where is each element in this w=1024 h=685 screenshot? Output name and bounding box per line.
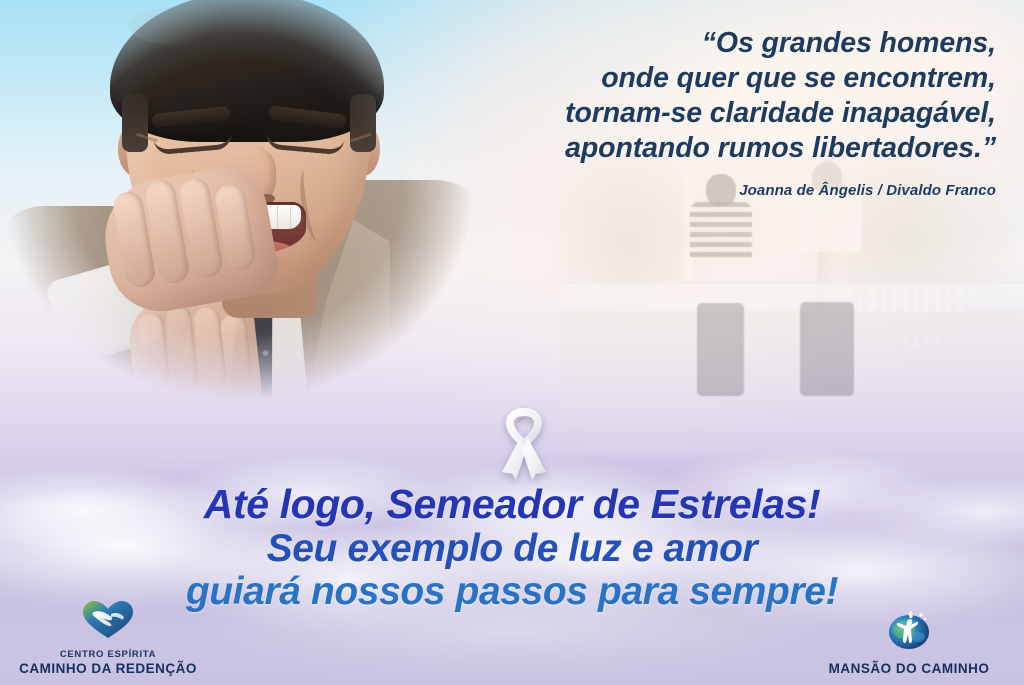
heart-hands-icon bbox=[8, 600, 208, 645]
logo-mansao-do-caminho: MANSÃO DO CAMINHO bbox=[804, 610, 1014, 677]
person-torso bbox=[690, 202, 752, 260]
quote-line-2: onde quer que se encontrem, bbox=[356, 61, 996, 96]
headline-line-2: Seu exemplo de luz e amor bbox=[0, 527, 1024, 570]
sideburn-left bbox=[122, 94, 148, 152]
person-legs bbox=[697, 303, 744, 396]
person-striped-shirt bbox=[690, 174, 752, 396]
white-awareness-ribbon-icon bbox=[496, 406, 552, 482]
quote-line-1: “Os grandes homens, bbox=[356, 26, 996, 61]
logo-centro-espirita: CENTRO ESPÍRITA CAMINHO DA REDENÇÃO bbox=[8, 600, 208, 677]
quote-line-3: tornam-se claridade inapagável, bbox=[356, 96, 996, 131]
quote-block: “Os grandes homens, onde quer que se enc… bbox=[356, 26, 996, 199]
quote-attribution: Joanna de Ângelis / Divaldo Franco bbox=[356, 182, 996, 199]
globe-figure-icon bbox=[804, 610, 1014, 657]
logo-left-line-2: CAMINHO DA REDENÇÃO bbox=[8, 661, 208, 677]
logo-right-line-1: MANSÃO DO CAMINHO bbox=[804, 661, 1014, 677]
headline-block: Até logo, Semeador de Estrelas! Seu exem… bbox=[0, 482, 1024, 613]
finger-ring bbox=[38, 29, 65, 42]
person-torso bbox=[792, 190, 862, 252]
headline-line-1: Até logo, Semeador de Estrelas! bbox=[0, 482, 1024, 527]
person-legs bbox=[800, 302, 853, 396]
logo-left-line-1: CENTRO ESPÍRITA bbox=[8, 649, 208, 661]
quote-line-4: apontando rumos libertadores.” bbox=[356, 131, 996, 166]
memorial-banner: “Os grandes homens, onde quer que se enc… bbox=[0, 0, 1024, 685]
